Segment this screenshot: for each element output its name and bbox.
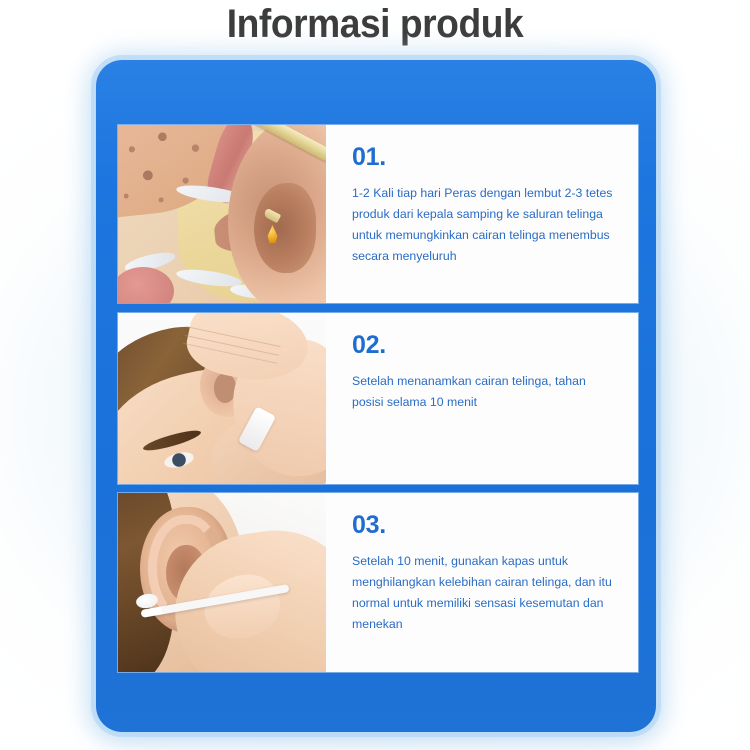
step-3-text: Setelah 10 menit, gunakan kapas untuk me… [352, 551, 616, 636]
step-card-2: 02. Setelah menanamkan cairan telinga, t… [118, 313, 638, 484]
step-1-text: 1-2 Kali tiap hari Peras dengan lembut 2… [352, 183, 616, 268]
step-3-body: 03. Setelah 10 menit, gunakan kapas untu… [326, 493, 638, 672]
step-1-body: 01. 1-2 Kali tiap hari Peras dengan lemb… [326, 125, 638, 303]
step-card-3: 03. Setelah 10 menit, gunakan kapas untu… [118, 493, 638, 672]
step-2-image [118, 313, 326, 484]
step-3-number: 03. [352, 513, 616, 538]
page-title: Informasi produk [26, 2, 724, 47]
inner-ear-shape [254, 183, 316, 273]
woman-applying-drops-illustration [118, 313, 326, 484]
step-2-body: 02. Setelah menanamkan cairan telinga, t… [326, 313, 638, 484]
ear-cotton-swab-illustration [118, 493, 326, 672]
step-2-number: 02. [352, 333, 616, 358]
step-3-image [118, 493, 326, 672]
step-card-1: 01. 1-2 Kali tiap hari Peras dengan lemb… [118, 125, 638, 303]
step-1-number: 01. [352, 145, 616, 170]
step-2-text: Setelah menanamkan cairan telinga, tahan… [352, 371, 616, 413]
step-1-image [118, 125, 326, 303]
ear-anatomy-illustration [118, 125, 326, 303]
tissue-lobe-shape [118, 267, 174, 303]
